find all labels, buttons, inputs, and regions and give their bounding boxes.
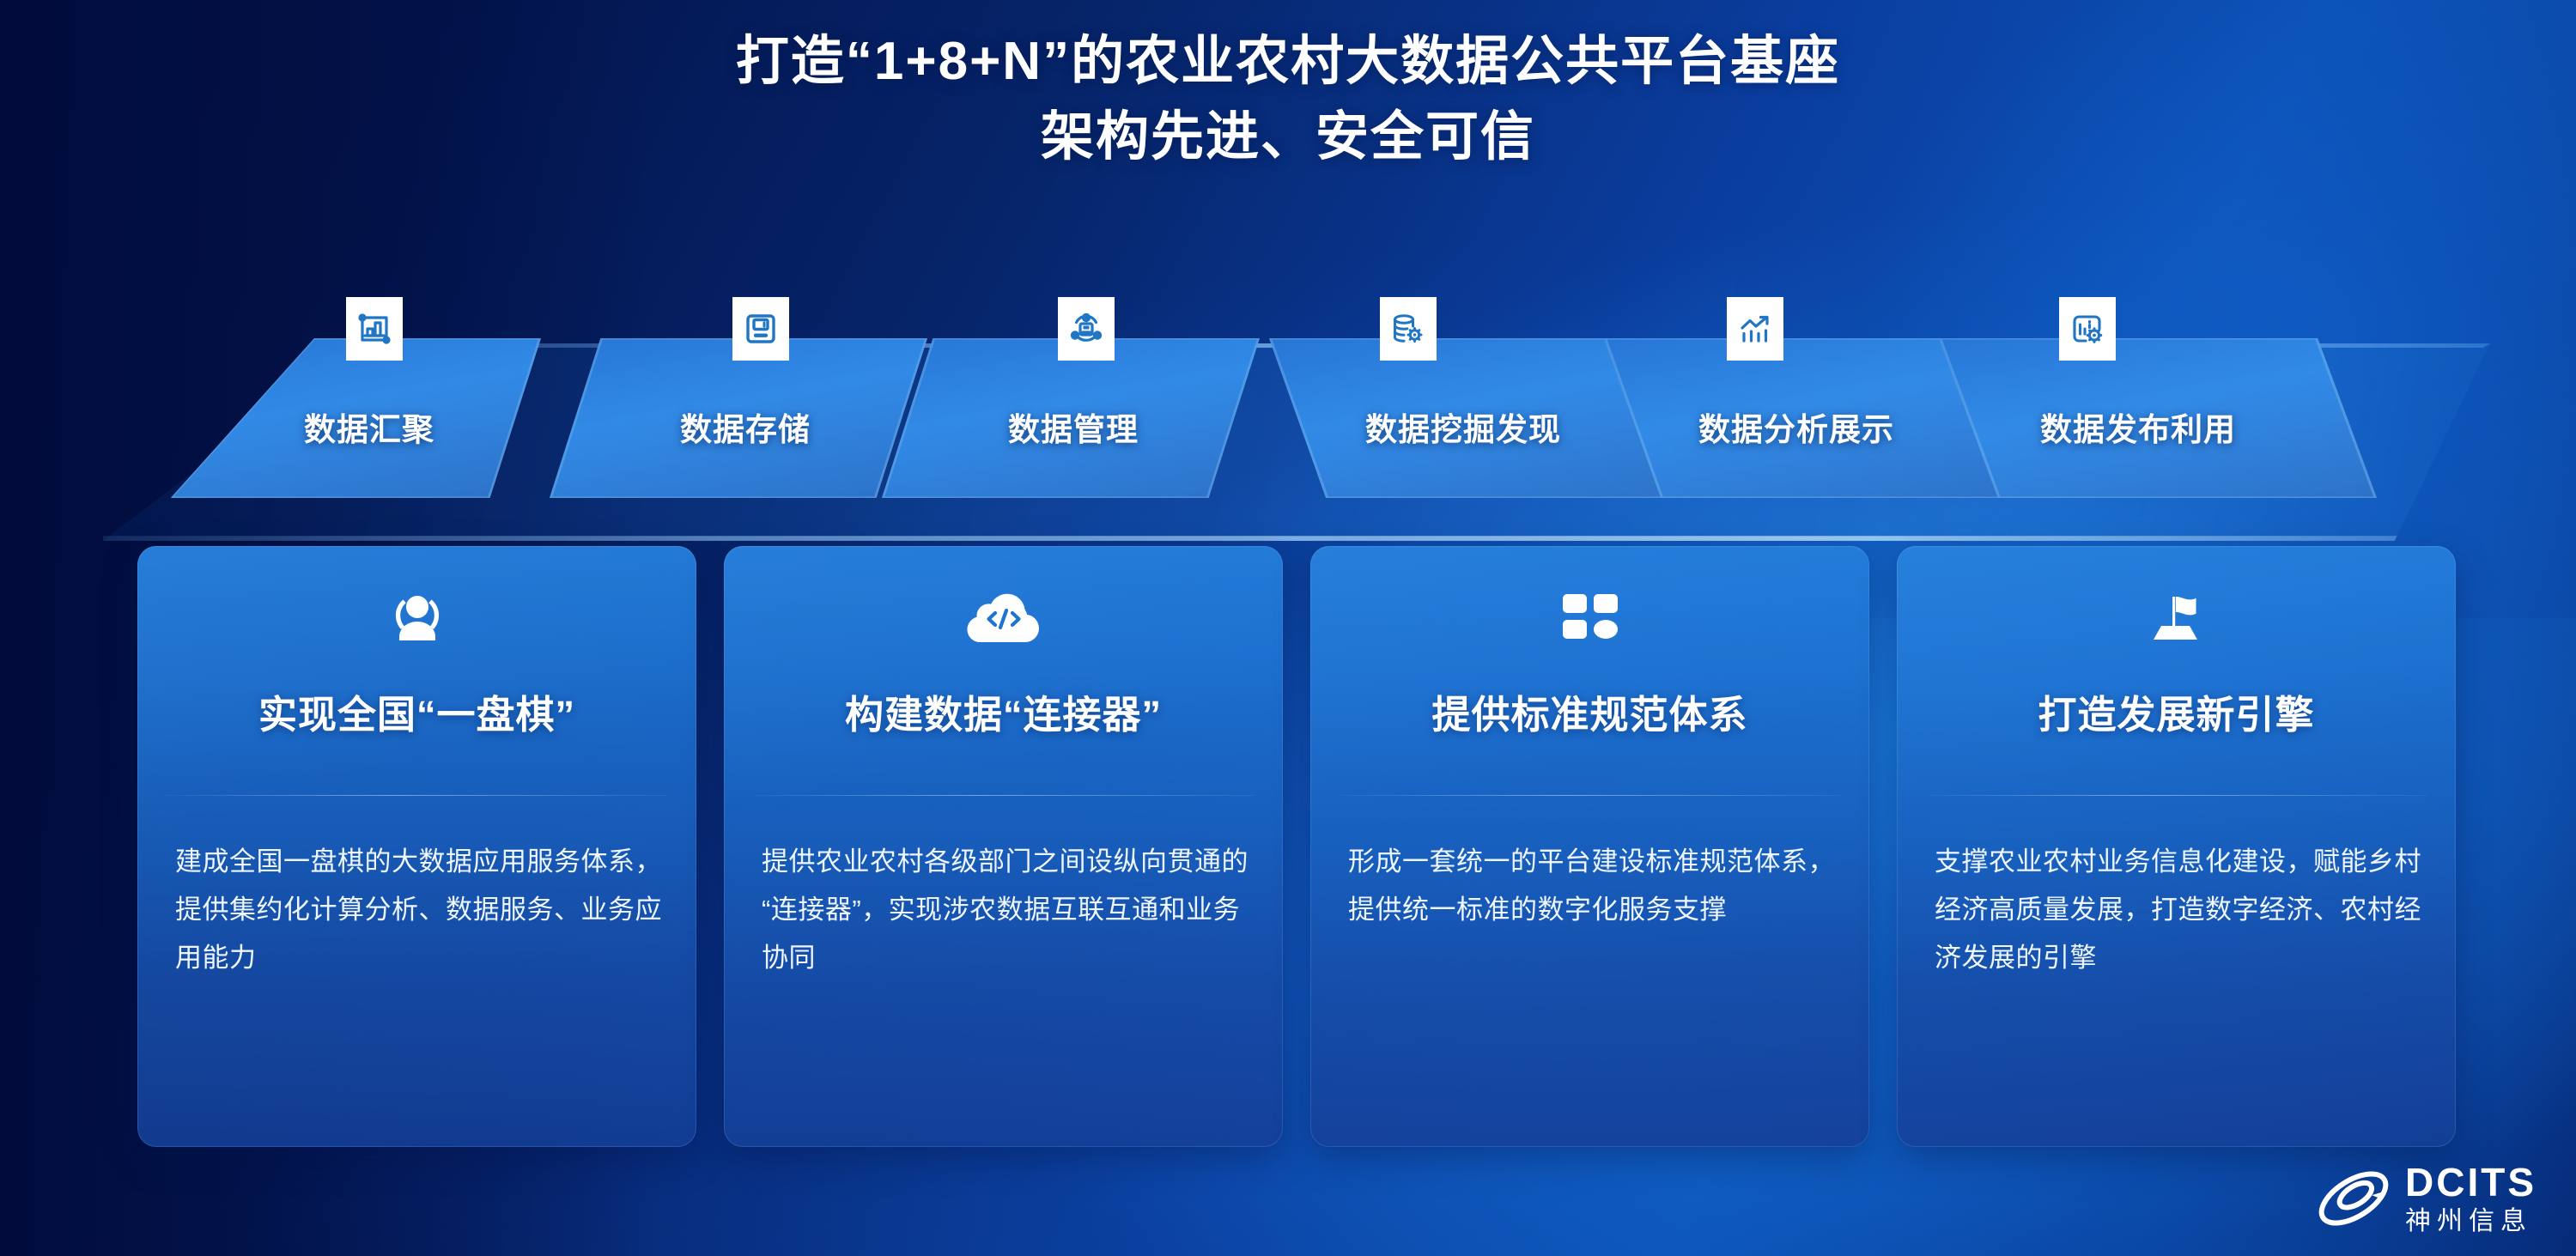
pipeline-step-1[interactable]: 数据汇聚: [163, 302, 541, 498]
data-pipeline-row: 数据汇聚 数据存储: [0, 302, 2576, 525]
feature-card-3-divider: [1340, 795, 1840, 796]
feature-card-2-title: 构建数据“连接器”: [724, 683, 1283, 739]
feature-card-4[interactable]: 打造发展新引擎 支撑农业农村业务信息化建设，赋能乡村经济高质量发展，打造数字经济…: [1897, 546, 2456, 1147]
logo-text-cn: 神州信息: [2405, 1209, 2537, 1235]
feature-card-4-title: 打造发展新引擎: [1897, 683, 2456, 739]
page-title: 打造“1+8+N”的农业农村大数据公共平台基座 架构先进、安全可信: [0, 24, 2576, 175]
feature-card-1[interactable]: 实现全国“一盘棋” 建成全国一盘棋的大数据应用服务体系，提供集约化计算分析、数据…: [137, 546, 696, 1147]
users-group-icon: [137, 589, 696, 649]
cloud-code-icon: [724, 589, 1283, 649]
swirl-at-mark-icon: [2314, 1162, 2393, 1235]
logo-text-en: DCITS: [2405, 1162, 2537, 1202]
flag-icon: [1897, 589, 2456, 649]
feature-card-2[interactable]: 构建数据“连接器” 提供农业农村各级部门之间设纵向贯通的“连接器”，实现涉农数据…: [724, 546, 1283, 1147]
chart-panel-gear-icon: [2059, 297, 2116, 361]
bar-chart-connector-icon: [346, 297, 403, 361]
pipeline-step-6-label: 数据发布利用: [1899, 403, 2377, 450]
database-network-icon: [1058, 297, 1115, 361]
feature-card-1-title: 实现全国“一盘棋”: [137, 683, 696, 739]
feature-card-3[interactable]: 提供标准规范体系 形成一套统一的平台建设标准规范体系，提供统一标准的数字化服务支…: [1310, 546, 1869, 1147]
feature-cards-row: 实现全国“一盘棋” 建成全国一盘棋的大数据应用服务体系，提供集约化计算分析、数据…: [137, 546, 2456, 1147]
title-line-1: 打造“1+8+N”的农业农村大数据公共平台基座: [0, 24, 2576, 100]
pipeline-step-3-label: 数据管理: [887, 403, 1260, 450]
floppy-disk-icon: [732, 297, 789, 361]
feature-card-2-body: 提供农业农村各级部门之间设纵向贯通的“连接器”，实现涉农数据互联互通和业务协同: [762, 838, 1249, 982]
pipeline-step-2[interactable]: 数据存储: [550, 302, 927, 498]
title-line-2: 架构先进、安全可信: [0, 100, 2576, 175]
grid-four-icon: [1310, 589, 1869, 649]
pipeline-step-1-label: 数据汇聚: [197, 403, 541, 450]
brand-logo: DCITS 神州信息: [2314, 1162, 2537, 1235]
slide-canvas: 打造“1+8+N”的农业农村大数据公共平台基座 架构先进、安全可信: [0, 0, 2576, 1256]
pipeline-step-6[interactable]: 数据发布利用: [1939, 302, 2377, 498]
database-gear-icon: [1380, 297, 1437, 361]
feature-card-1-body: 建成全国一盘棋的大数据应用服务体系，提供集约化计算分析、数据服务、业务应用能力: [175, 838, 662, 982]
feature-card-4-divider: [1926, 795, 2427, 796]
feature-card-2-divider: [753, 795, 1254, 796]
pipeline-step-3[interactable]: 数据管理: [882, 302, 1260, 498]
pipeline-step-2-label: 数据存储: [563, 403, 927, 450]
feature-card-1-divider: [167, 795, 667, 796]
feature-card-3-body: 形成一套统一的平台建设标准规范体系，提供统一标准的数字化服务支撑: [1348, 838, 1835, 934]
feature-card-4-body: 支撑农业农村业务信息化建设，赋能乡村经济高质量发展，打造数字经济、农村经济发展的…: [1935, 838, 2421, 982]
trend-bar-chart-icon: [1727, 297, 1783, 361]
feature-card-3-title: 提供标准规范体系: [1310, 683, 1869, 739]
